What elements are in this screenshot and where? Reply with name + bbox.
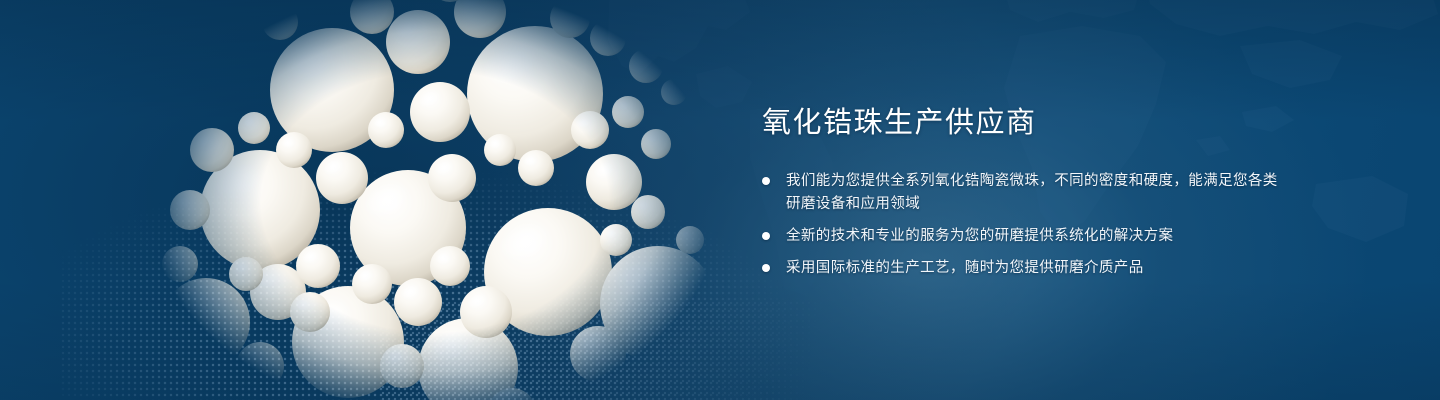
list-item: 我们能为您提供全系列氧化锆陶瓷微珠，不同的密度和硬度，能满足您各类研磨设备和应用…: [762, 170, 1282, 216]
page-title: 氧化锆珠生产供应商: [762, 108, 1282, 140]
feature-list: 我们能为您提供全系列氧化锆陶瓷微珠，不同的密度和硬度，能满足您各类研磨设备和应用…: [762, 170, 1282, 280]
list-item-text: 采用国际标准的生产工艺，随时为您提供研磨介质产品: [786, 257, 1144, 280]
hero-banner: 氧化锆珠生产供应商 我们能为您提供全系列氧化锆陶瓷微珠，不同的密度和硬度，能满足…: [0, 0, 1440, 400]
bullet-dot-icon: [762, 177, 770, 185]
bullet-dot-icon: [762, 264, 770, 272]
list-item-text: 我们能为您提供全系列氧化锆陶瓷微珠，不同的密度和硬度，能满足您各类研磨设备和应用…: [786, 170, 1282, 216]
list-item: 采用国际标准的生产工艺，随时为您提供研磨介质产品: [762, 257, 1282, 280]
bullet-dot-icon: [762, 232, 770, 240]
zirconia-beads-photo: [150, 0, 720, 400]
list-item: 全新的技术和专业的服务为您的研磨提供系统化的解决方案: [762, 225, 1282, 248]
banner-copy: 氧化锆珠生产供应商 我们能为您提供全系列氧化锆陶瓷微珠，不同的密度和硬度，能满足…: [762, 108, 1282, 280]
list-item-text: 全新的技术和专业的服务为您的研磨提供系统化的解决方案: [786, 225, 1173, 248]
